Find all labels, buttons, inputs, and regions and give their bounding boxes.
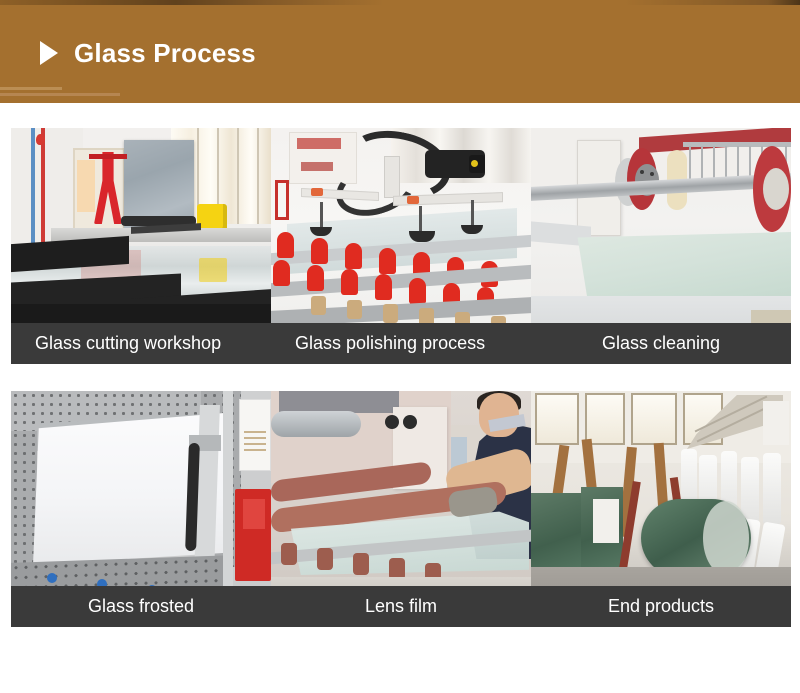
gallery-card[interactable]: Glass cutting workshop [11, 128, 271, 364]
card-caption: Glass frosted [11, 586, 271, 627]
gallery-card[interactable]: Lens film [271, 391, 531, 627]
glass-process-banner: Glass Process [0, 0, 800, 693]
gallery-card[interactable]: Glass polishing process [271, 128, 531, 364]
card-caption: Glass cutting workshop [11, 323, 271, 364]
header-title-group: Glass Process [40, 40, 256, 66]
card-caption: Glass polishing process [271, 323, 531, 364]
play-triangle-icon [40, 41, 58, 65]
header-accent-bar-2 [0, 93, 120, 96]
section-header: Glass Process [0, 0, 800, 103]
header-accent-bar-1 [0, 87, 62, 90]
process-gallery-grid: Glass cutting workshop [11, 128, 789, 627]
gallery-card[interactable]: Glass cleaning [531, 128, 791, 364]
gallery-card[interactable]: End products [531, 391, 791, 627]
card-caption: Lens film [271, 586, 531, 627]
card-caption: Glass cleaning [531, 323, 791, 364]
page-title: Glass Process [74, 40, 256, 66]
gallery-card[interactable]: Glass frosted [11, 391, 271, 627]
card-caption: End products [531, 586, 791, 627]
header-top-shade [0, 0, 800, 5]
